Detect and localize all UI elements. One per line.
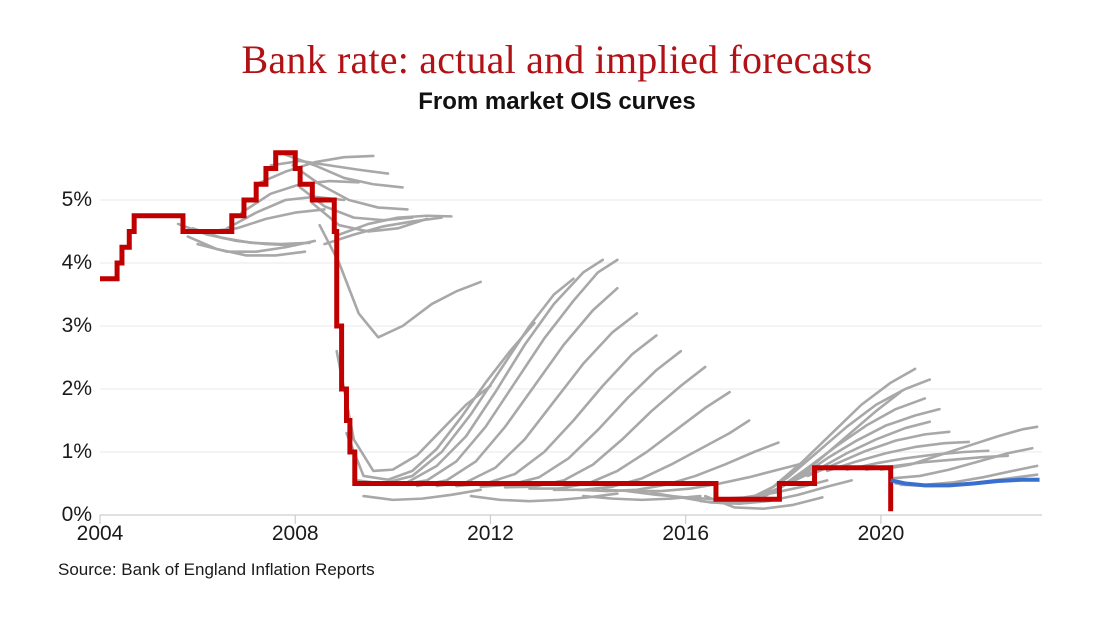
forecast-curve: [456, 335, 656, 486]
x-axis-label: 2008: [272, 523, 319, 544]
chart-root: Bank rate: actual and implied forecasts …: [0, 0, 1114, 618]
x-axis-label: 2004: [77, 523, 124, 544]
forecast-curve: [554, 421, 749, 490]
forecast-curve: [378, 260, 603, 485]
y-axis-label: 2%: [36, 378, 92, 399]
x-axis-label: 2012: [467, 523, 514, 544]
forecast-curves-group: [178, 155, 1037, 509]
forecast-curve: [437, 313, 637, 486]
chart-plot-area: [0, 0, 1114, 618]
y-axis-label: 3%: [36, 315, 92, 336]
series-lines-group: [100, 153, 1040, 509]
forecast-curve: [364, 490, 481, 500]
y-axis-label: 5%: [36, 189, 92, 210]
forecast-curve: [320, 225, 481, 337]
forecast-curve: [207, 209, 324, 231]
y-axis-label: 1%: [36, 441, 92, 462]
forecast-curve: [471, 494, 617, 502]
x-axis-label: 2020: [858, 523, 905, 544]
source-note: Source: Bank of England Inflation Report…: [58, 560, 375, 580]
gridlines: [100, 200, 1042, 515]
series-line: [100, 153, 893, 509]
forecast-curve: [337, 351, 491, 471]
x-axis-label: 2016: [662, 523, 709, 544]
y-axis-label: 4%: [36, 252, 92, 273]
forecast-curve: [300, 187, 412, 220]
